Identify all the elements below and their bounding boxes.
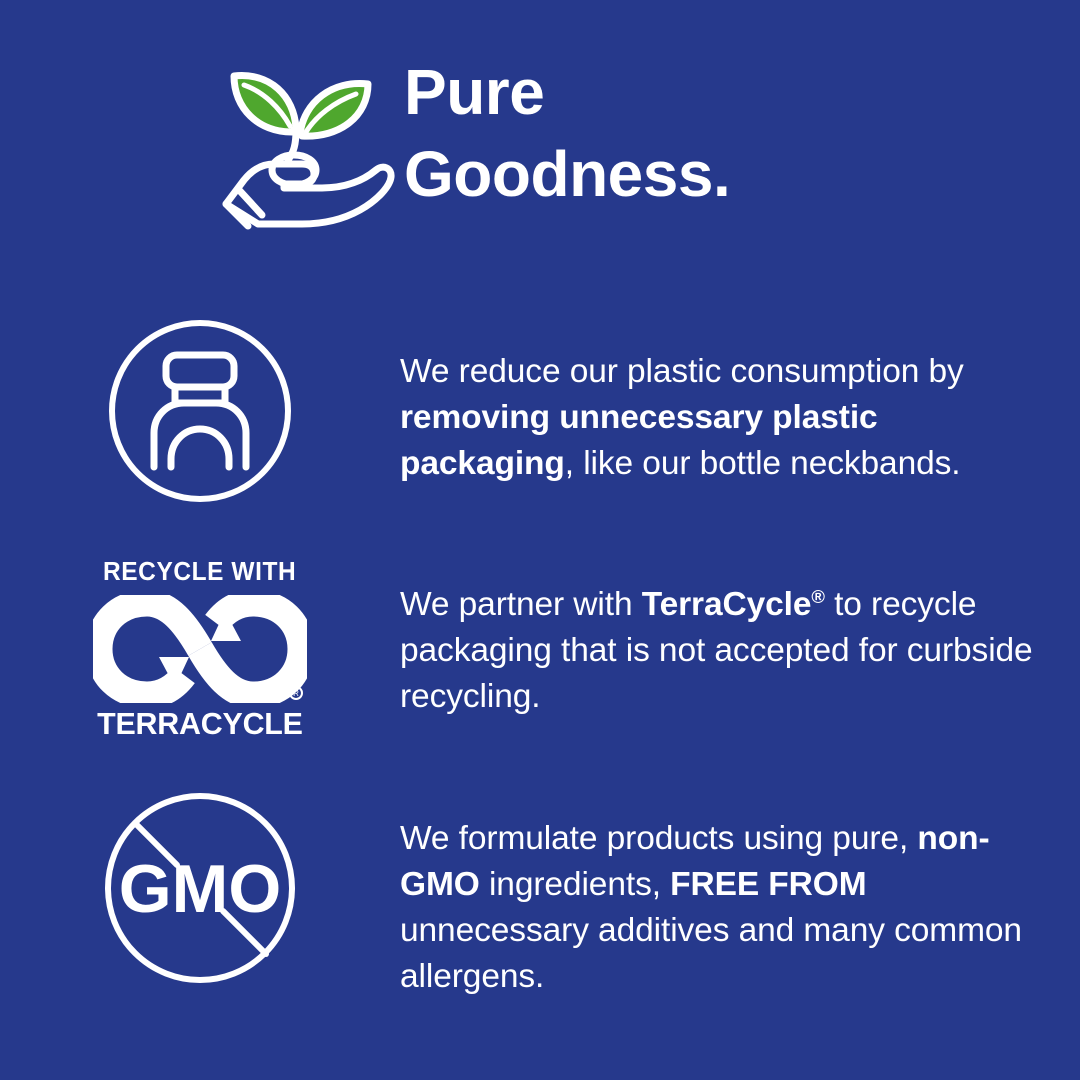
feature-copy-plastic-reduction: We reduce our plastic consumption by rem… — [400, 316, 1054, 487]
feature-row-terracycle: RECYCLE WITH R TERRACYCLE W — [0, 552, 1080, 739]
copy-cell: We partner with TerraCycle® to recycle p… — [400, 552, 1080, 720]
icon-cell: GMO — [0, 788, 400, 988]
icon-cell: RECYCLE WITH R TERRACYCLE — [0, 552, 400, 739]
feature-copy-terracycle: We partner with TerraCycle® to recycle p… — [400, 552, 1054, 720]
infinity-recycle-loop-icon: R — [93, 586, 307, 703]
copy-cell: We formulate products using pure, non-GM… — [400, 788, 1080, 1000]
no-gmo-icon: GMO — [100, 788, 300, 988]
terracycle-logo-top-text: RECYCLE WITH — [103, 560, 296, 586]
svg-text:R: R — [293, 689, 299, 698]
terracycle-logo: RECYCLE WITH R TERRACYCLE — [93, 552, 307, 739]
header: Pure Goodness. — [0, 0, 1080, 270]
feature-row-non-gmo: GMO We formulate products using pure, no… — [0, 788, 1080, 1000]
feature-row-plastic-reduction: We reduce our plastic consumption by rem… — [0, 316, 1080, 506]
brand-title-line-2: Goodness. — [404, 142, 1004, 206]
icon-cell — [0, 316, 400, 506]
no-gmo-icon-label: GMO — [119, 851, 281, 927]
copy-cell: We reduce our plastic consumption by rem… — [400, 316, 1080, 487]
brand-title: Pure Goodness. — [404, 60, 1004, 206]
hand-holding-sprout-icon — [218, 58, 398, 233]
bottle-in-circle-icon — [105, 316, 295, 506]
terracycle-logo-bottom-text: TERRACYCLE — [97, 708, 303, 739]
feature-copy-non-gmo: We formulate products using pure, non-GM… — [400, 788, 1054, 1000]
brand-title-line-1: Pure — [404, 60, 1004, 124]
